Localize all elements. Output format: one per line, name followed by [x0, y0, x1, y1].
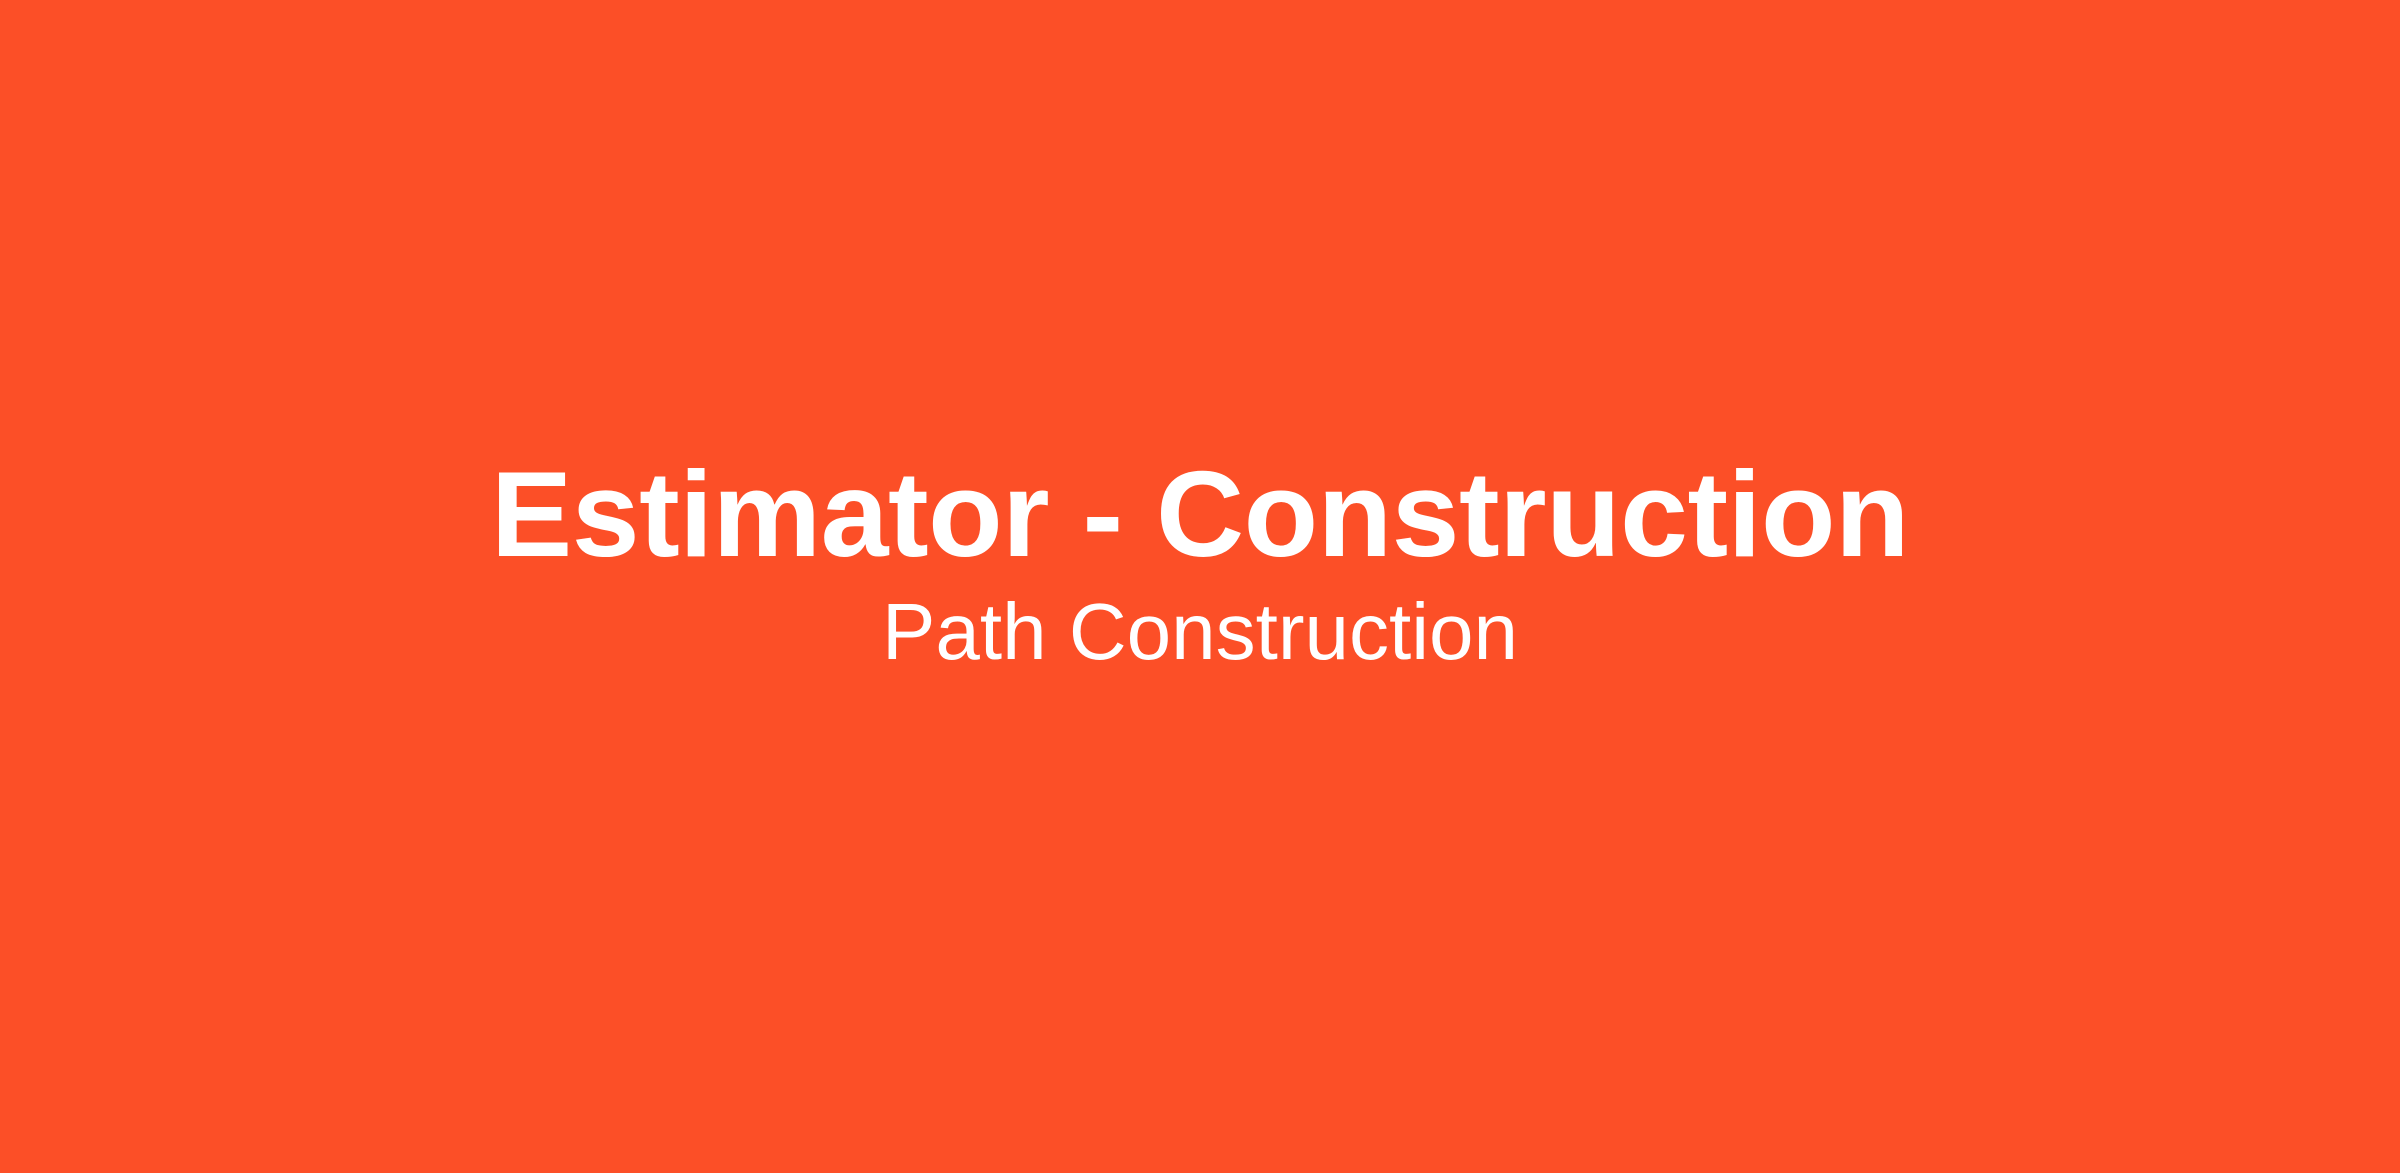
title-block: Estimator - Construction Path Constructi…	[0, 452, 2400, 674]
page-title: Estimator - Construction	[491, 452, 1909, 576]
title-card: Estimator - Construction Path Constructi…	[0, 0, 2400, 1173]
page-subtitle: Path Construction	[882, 590, 1518, 674]
